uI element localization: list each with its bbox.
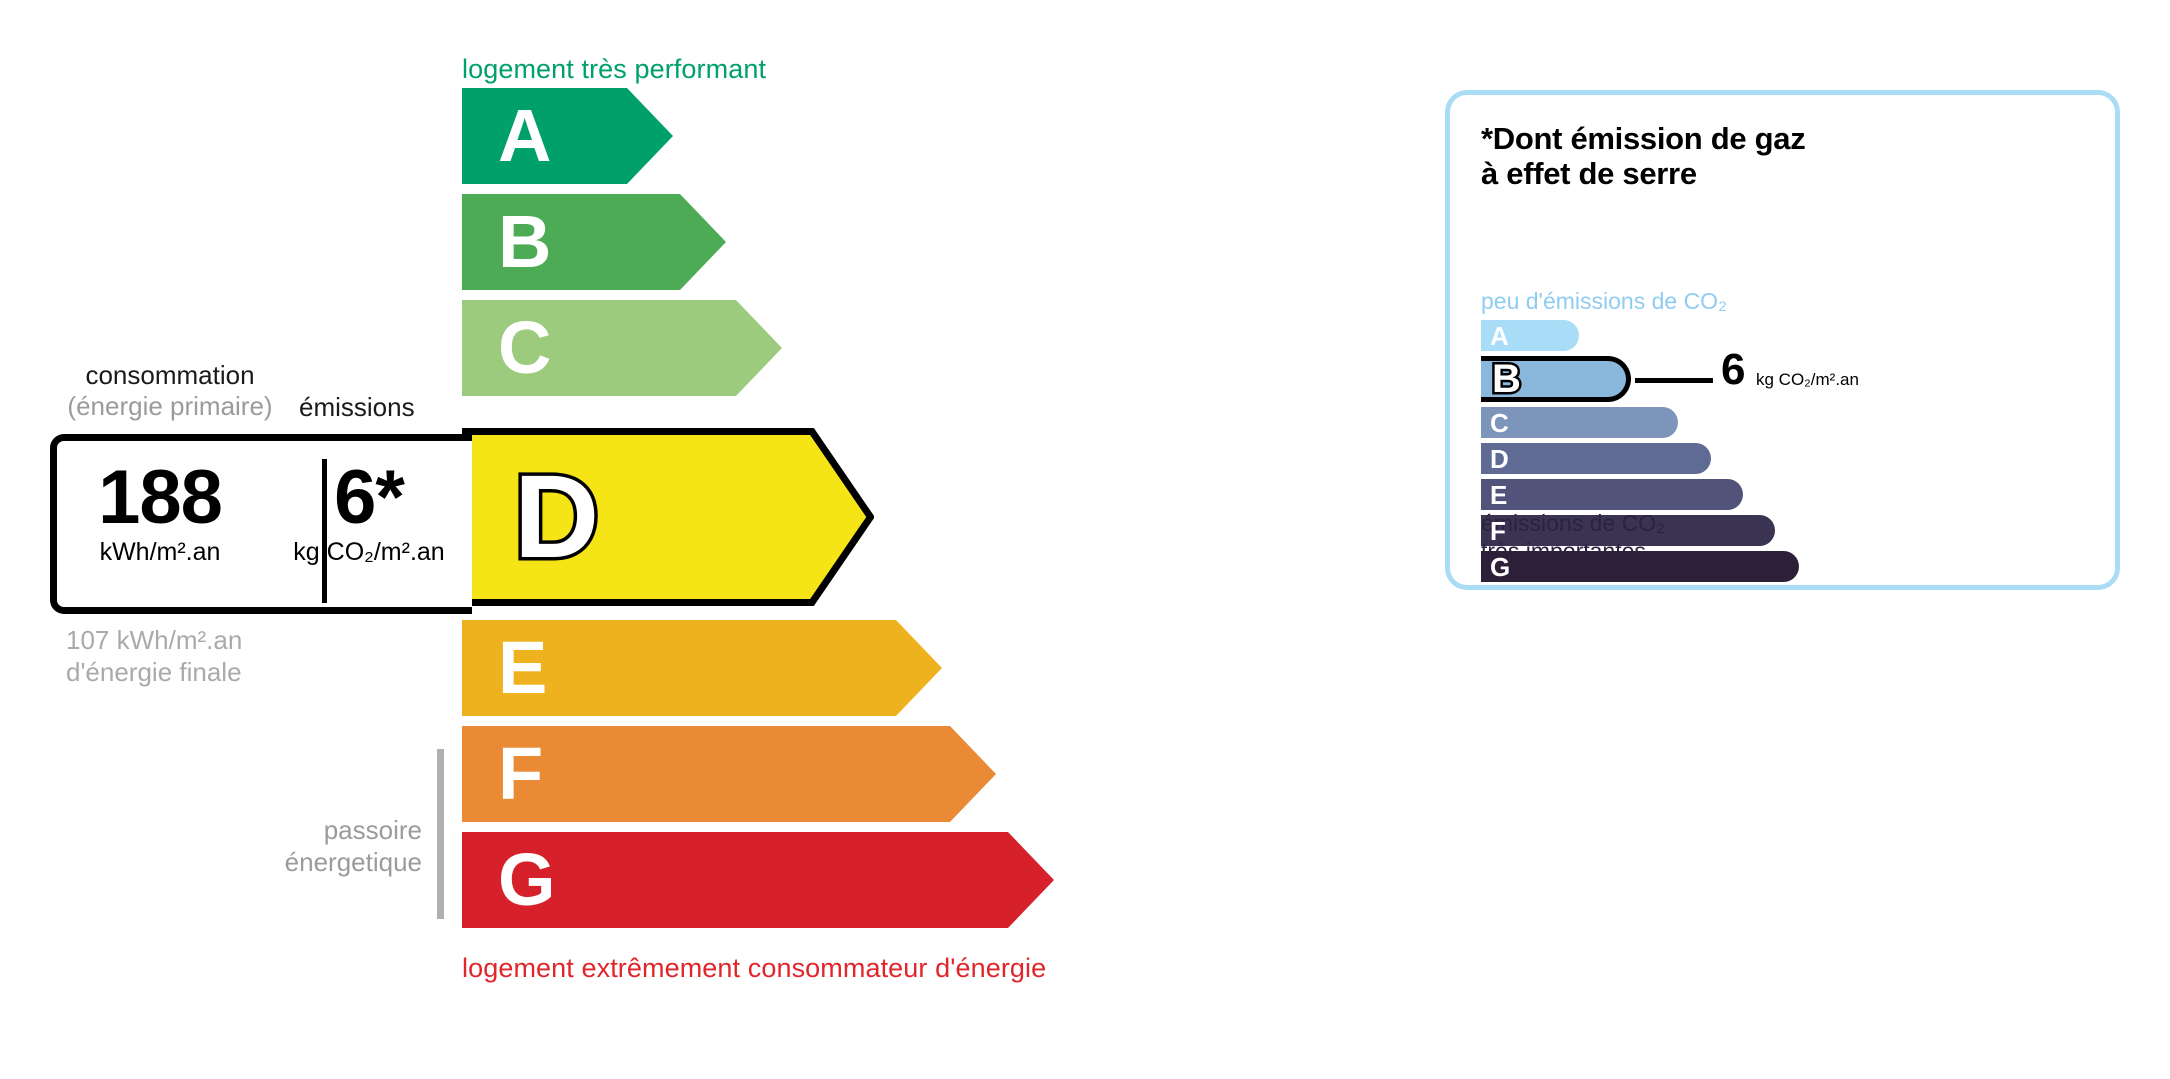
final-energy-note: 107 kWh/m².an d'énergie finale <box>66 625 242 688</box>
energy-class-letter-a: A <box>498 99 551 173</box>
emissions-header: émissions <box>299 392 415 423</box>
emissions-unit: kg CO₂/m².an <box>269 539 469 567</box>
co2-class-letter-b: B <box>1492 359 1521 399</box>
co2-class-letter-a: A <box>1490 323 1509 349</box>
co2-class-letter-e: E <box>1490 482 1507 508</box>
energy-high-label: logement extrêmement consommateur d'éner… <box>462 953 1046 984</box>
co2-value-unit: kg CO₂/m².an <box>1756 370 1859 390</box>
value-box-headers: consommation (énergie primaire) émission… <box>50 360 480 432</box>
co2-value: 6 <box>1721 348 1745 392</box>
passoire-label: passoire énergetique <box>250 815 422 878</box>
co2-class-letter-c: C <box>1490 410 1509 436</box>
emissions-value-cell: 6* kg CO₂/m².an <box>269 459 469 566</box>
energy-class-letter-f: F <box>498 737 543 811</box>
energy-arrow-shape-a <box>462 88 673 184</box>
energy-class-letter-e: E <box>498 631 547 705</box>
co2-class-letter-d: D <box>1490 446 1509 472</box>
consumption-header: consommation (énergie primaire) <box>50 360 290 421</box>
co2-class-letter-f: F <box>1490 518 1506 544</box>
energy-class-letter-d: D <box>514 458 599 576</box>
energy-class-e: E <box>462 620 982 716</box>
co2-bar-c <box>1481 407 1678 438</box>
passoire-line2: énergetique <box>285 847 422 877</box>
co2-low-label: peu d'émissions de CO₂ <box>1481 288 1727 315</box>
energy-low-label: logement très performant <box>462 54 766 85</box>
co2-high-label-line1: émissions de CO₂ <box>1481 510 1665 536</box>
passoire-indicator-bar <box>437 749 444 919</box>
co2-leader-line <box>1635 378 1713 383</box>
energy-class-letter-c: C <box>498 311 551 385</box>
emissions-value: 6* <box>269 459 469 537</box>
consumption-header-line2: (énergie primaire) <box>67 391 272 421</box>
co2-emissions-panel: *Dont émission de gaz à effet de serre p… <box>1445 90 2120 590</box>
co2-class-b: B6kg CO₂/m².an <box>1481 356 2081 402</box>
co2-class-letter-g: G <box>1490 554 1510 580</box>
final-energy-line2: d'énergie finale <box>66 657 242 687</box>
passoire-line1: passoire <box>324 815 422 845</box>
energy-class-a: A <box>462 88 713 184</box>
co2-class-a: A <box>1481 320 2081 351</box>
co2-class-e: E <box>1481 479 2081 510</box>
value-box: 188 kWh/m².an 6* kg CO₂/m².an <box>50 434 472 614</box>
energy-class-c: C <box>462 300 822 396</box>
consumption-header-line1: consommation <box>85 360 254 390</box>
energy-performance-chart: logement très performant ABCDEFG logemen… <box>0 0 1400 1079</box>
energy-class-letter-g: G <box>498 843 556 917</box>
co2-bar-d <box>1481 443 1711 474</box>
energy-class-g: G <box>462 832 1094 928</box>
consumption-value-cell: 188 kWh/m².an <box>60 459 260 566</box>
co2-title-line2: à effet de serre <box>1481 156 1697 191</box>
co2-bar-e <box>1481 479 1743 510</box>
consumption-unit: kWh/m².an <box>60 539 260 567</box>
co2-panel-title: *Dont émission de gaz à effet de serre <box>1481 121 1805 191</box>
energy-class-letter-b: B <box>498 205 551 279</box>
energy-class-d: D <box>462 428 914 606</box>
co2-title-line1: *Dont émission de gaz <box>1481 121 1805 156</box>
energy-class-f: F <box>462 726 1036 822</box>
consumption-value: 188 <box>60 459 260 537</box>
co2-class-c: C <box>1481 407 2081 438</box>
co2-class-d: D <box>1481 443 2081 474</box>
energy-class-b: B <box>462 194 766 290</box>
final-energy-line1: 107 kWh/m².an <box>66 625 242 655</box>
